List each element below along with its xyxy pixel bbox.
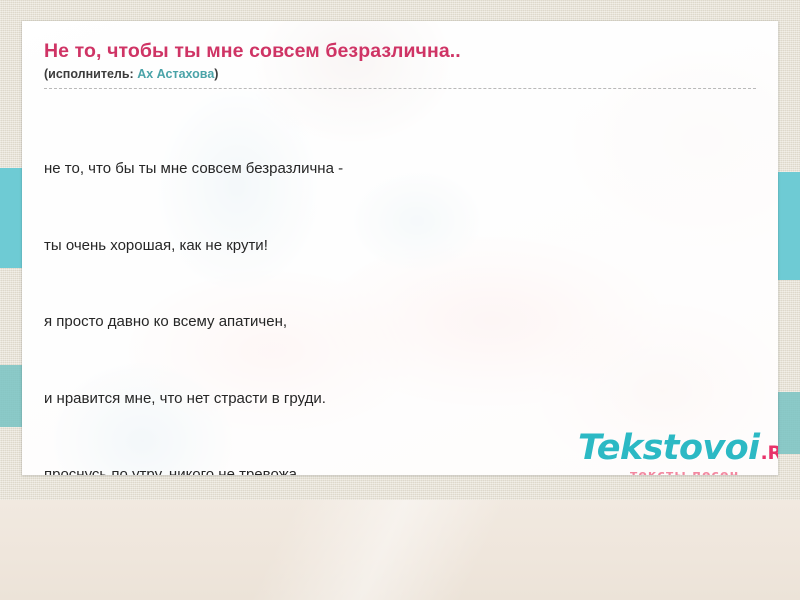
site-logo-tagline: тексты песен: [630, 467, 778, 475]
lyrics-body: не то, что бы ты мне совсем безразлична …: [44, 105, 756, 475]
lyric-line: я просто давно ко всему апатичен,: [44, 309, 756, 335]
artist-prefix-label: (исполнитель:: [44, 67, 137, 81]
lyric-line: не то, что бы ты мне совсем безразлична …: [44, 156, 756, 182]
sheet-content: Не то, чтобы ты мне совсем безразлична..…: [22, 21, 778, 475]
accent-band-right-upper: [778, 172, 800, 280]
lyrics-sheet: Не то, чтобы ты мне совсем безразлична..…: [22, 21, 778, 475]
artist-suffix-label: ): [214, 67, 218, 81]
site-logo-tld: .RU: [760, 444, 778, 463]
artist-link[interactable]: Ах Астахова: [137, 67, 214, 81]
lyric-line: и нравится мне, что нет страсти в груди.: [44, 386, 756, 412]
accent-band-right-lower: [778, 392, 800, 454]
site-logo-wordmark: Tekstovoi .RU: [578, 431, 778, 466]
page-root: Не то, чтобы ты мне совсем безразлична..…: [0, 0, 800, 600]
artist-line: (исполнитель: Ах Астахова): [44, 67, 756, 81]
accent-band-left-lower: [0, 365, 22, 427]
background-paper-bottom: [0, 500, 800, 600]
site-logo-name: Tekstovoi: [578, 431, 759, 466]
accent-band-left-upper: [0, 168, 22, 268]
page-title: Не то, чтобы ты мне совсем безразлична..: [44, 39, 756, 63]
header-divider: [44, 88, 756, 89]
lyric-line: ты очень хорошая, как не крути!: [44, 233, 756, 259]
site-logo[interactable]: Tekstovoi .RU тексты песен: [578, 431, 778, 475]
